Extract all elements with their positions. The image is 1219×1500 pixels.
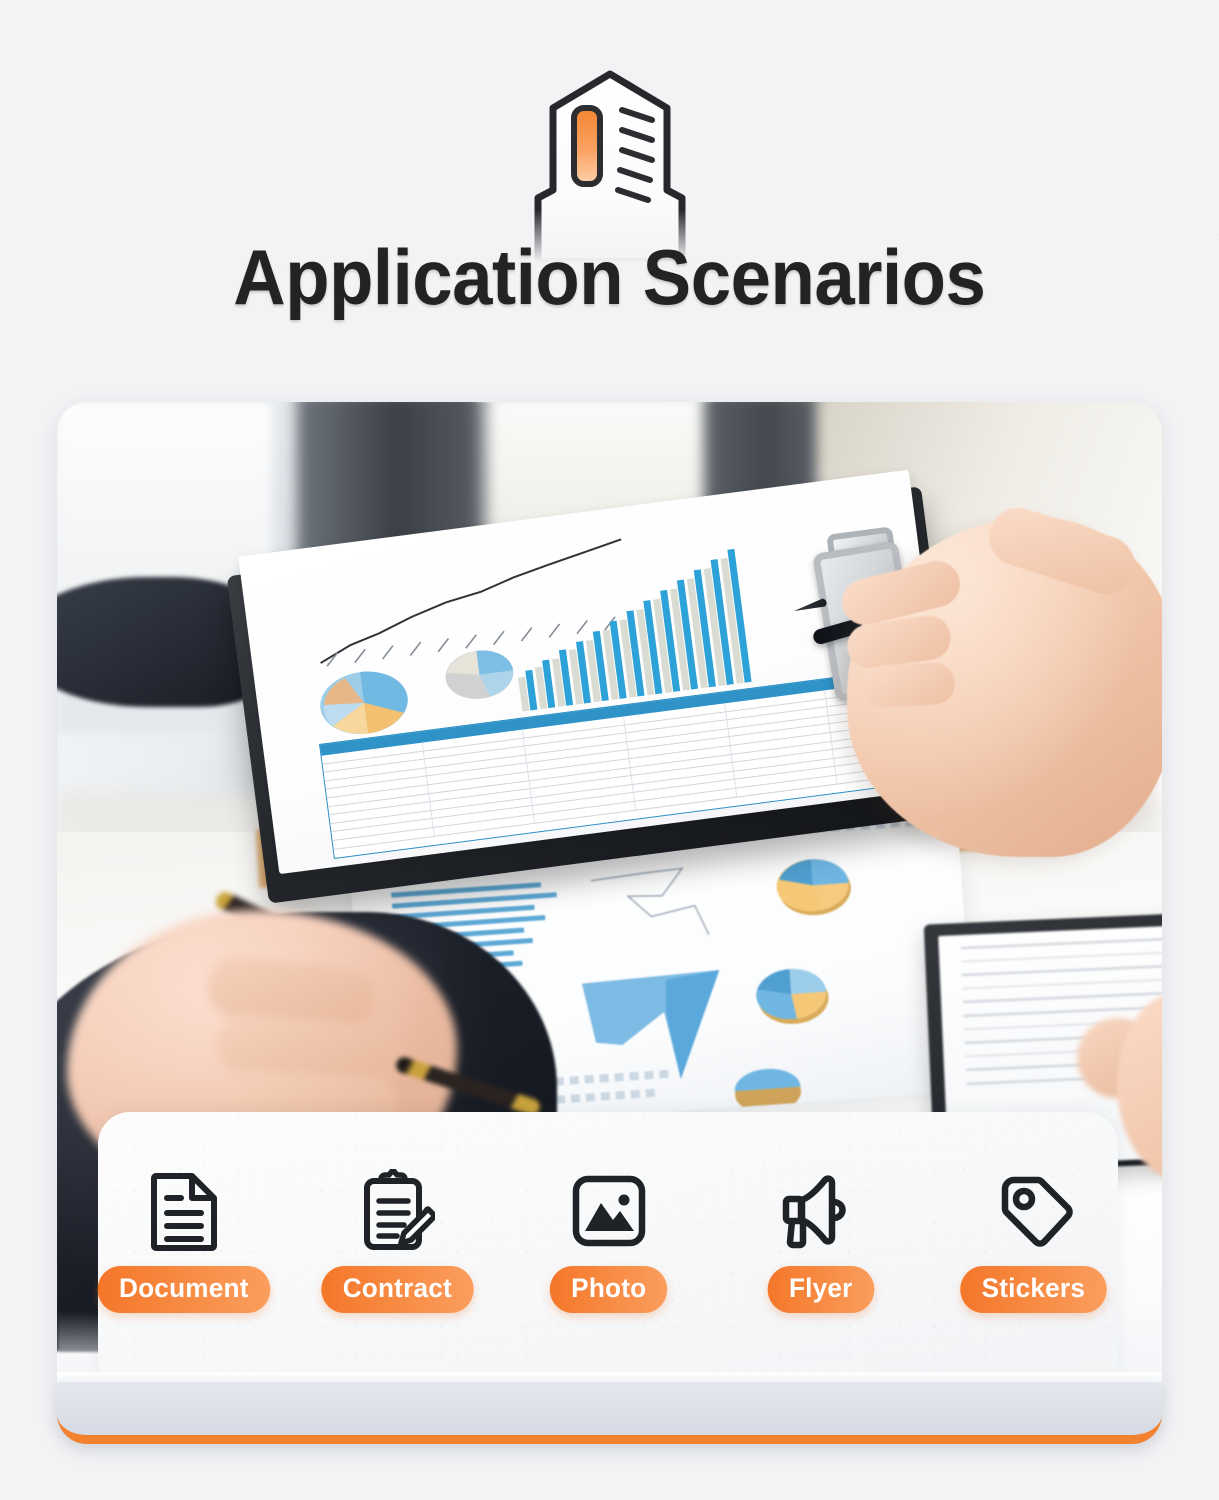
pie-chart-2 — [749, 958, 837, 1030]
scenario-chip-panel: Document Contract — [98, 1112, 1118, 1392]
clipboard-pencil-icon — [359, 1170, 435, 1252]
document-page-icon — [148, 1170, 220, 1252]
pie-chart-1 — [770, 850, 860, 922]
image-mountain-icon — [570, 1170, 648, 1252]
building-skyscraper-icon — [500, 62, 720, 262]
chip-label-contract[interactable]: Contract — [321, 1266, 473, 1313]
scenario-chip-document[interactable]: Document — [98, 1170, 270, 1313]
pie-chart-3 — [726, 1062, 809, 1113]
chip-label-document[interactable]: Document — [98, 1266, 270, 1313]
report-pie-chart-2 — [440, 644, 518, 705]
report-pie-chart-1 — [314, 664, 414, 741]
scenario-chip-stickers[interactable]: Stickers — [948, 1170, 1118, 1313]
card-bottom-accent-bar — [57, 1382, 1162, 1444]
price-tag-icon — [993, 1170, 1073, 1252]
page-header: Application Scenarios — [0, 0, 1219, 390]
chip-label-photo[interactable]: Photo — [550, 1266, 668, 1313]
chip-label-stickers[interactable]: Stickers — [960, 1266, 1106, 1313]
page-title: Application Scenarios — [233, 238, 985, 316]
scenario-chip-photo[interactable]: Photo — [524, 1170, 694, 1313]
desk-line-chart — [586, 863, 731, 951]
chip-label-flyer[interactable]: Flyer — [768, 1266, 874, 1313]
scenario-chip-flyer[interactable]: Flyer — [736, 1170, 906, 1313]
page-title-row: Application Scenarios — [0, 238, 1219, 316]
megaphone-icon — [779, 1170, 863, 1252]
finger — [862, 662, 956, 709]
scenario-chip-list: Document Contract — [98, 1170, 1118, 1313]
scenario-chip-contract[interactable]: Contract — [312, 1170, 482, 1313]
